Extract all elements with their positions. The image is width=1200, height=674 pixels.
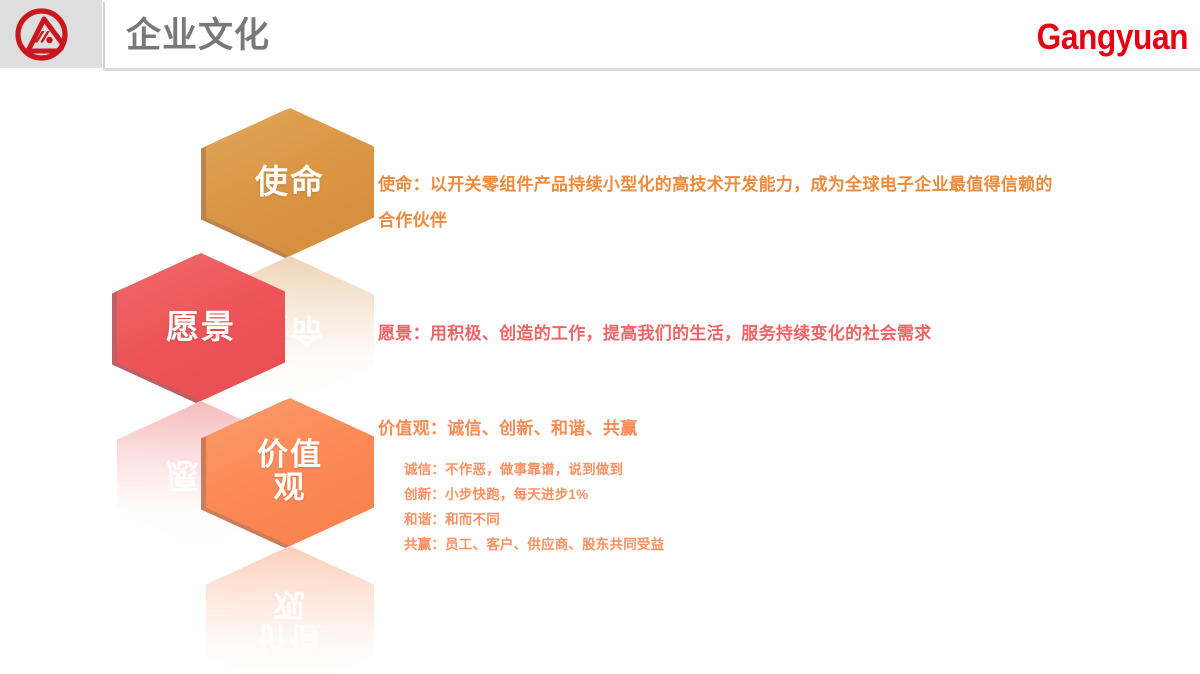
header-rule	[103, 68, 1200, 71]
values-detail-list: 诚信：不作恶，做事靠谱，说到做到 创新：小步快跑，每天进步1% 和谐：和而不同 …	[404, 457, 664, 557]
slide-root: 企业文化 Gangyuan 使命 愿景 价值 观 使命	[0, 0, 1200, 674]
page-title: 企业文化	[126, 14, 270, 58]
list-item: 和谐：和而不同	[404, 507, 664, 532]
hexagon-face-values: 价值 观	[206, 398, 374, 546]
brand-wordmark: Gangyuan	[1037, 15, 1188, 59]
hexagon-vision[interactable]: 愿景	[117, 253, 285, 401]
hexagon-stage: 使命 愿景 价值 观 使命 愿景	[0, 78, 400, 674]
list-item: 共赢：员工、客户、供应商、股东共同受益	[404, 532, 664, 557]
hexagon-reflection-label-values: 价值 观	[257, 587, 323, 652]
values-statement: 价值观：诚信、创新、和谐、共赢	[378, 411, 1068, 447]
list-item: 诚信：不作恶，做事靠谱，说到做到	[404, 457, 664, 482]
hexagon-reflection-values: 价值 观	[206, 546, 374, 674]
header-divider	[103, 2, 105, 68]
hexagon-face-vision: 愿景	[117, 253, 285, 401]
slide-header: 企业文化 Gangyuan	[0, 0, 1200, 78]
mission-block: 使命：以开关零组件产品持续小型化的高技术开发能力，成为全球电子企业最值得信赖的合…	[378, 167, 1068, 239]
content-column: 使命：以开关零组件产品持续小型化的高技术开发能力，成为全球电子企业最值得信赖的合…	[378, 78, 1078, 674]
hexagon-face-mission: 使命	[206, 108, 374, 256]
hexagon-values[interactable]: 价值 观	[206, 398, 374, 546]
vision-block: 愿景：用积极、创造的工作，提高我们的生活，服务持续变化的社会需求	[378, 316, 1068, 352]
list-item: 创新：小步快跑，每天进步1%	[404, 482, 664, 507]
vision-statement: 愿景：用积极、创造的工作，提高我们的生活，服务持续变化的社会需求	[378, 316, 1068, 352]
hexagon-mission[interactable]: 使命	[206, 108, 374, 256]
hexagon-label-values: 价值 观	[257, 439, 323, 504]
gangyuan-circular-logo-icon	[14, 7, 69, 62]
values-block: 价值观：诚信、创新、和谐、共赢 诚信：不作恶，做事靠谱，说到做到 创新：小步快跑…	[378, 411, 1068, 447]
hexagon-label-mission: 使命	[255, 164, 325, 200]
mission-statement: 使命：以开关零组件产品持续小型化的高技术开发能力，成为全球电子企业最值得信赖的合…	[378, 167, 1068, 239]
hexagon-label-vision: 愿景	[166, 309, 236, 345]
